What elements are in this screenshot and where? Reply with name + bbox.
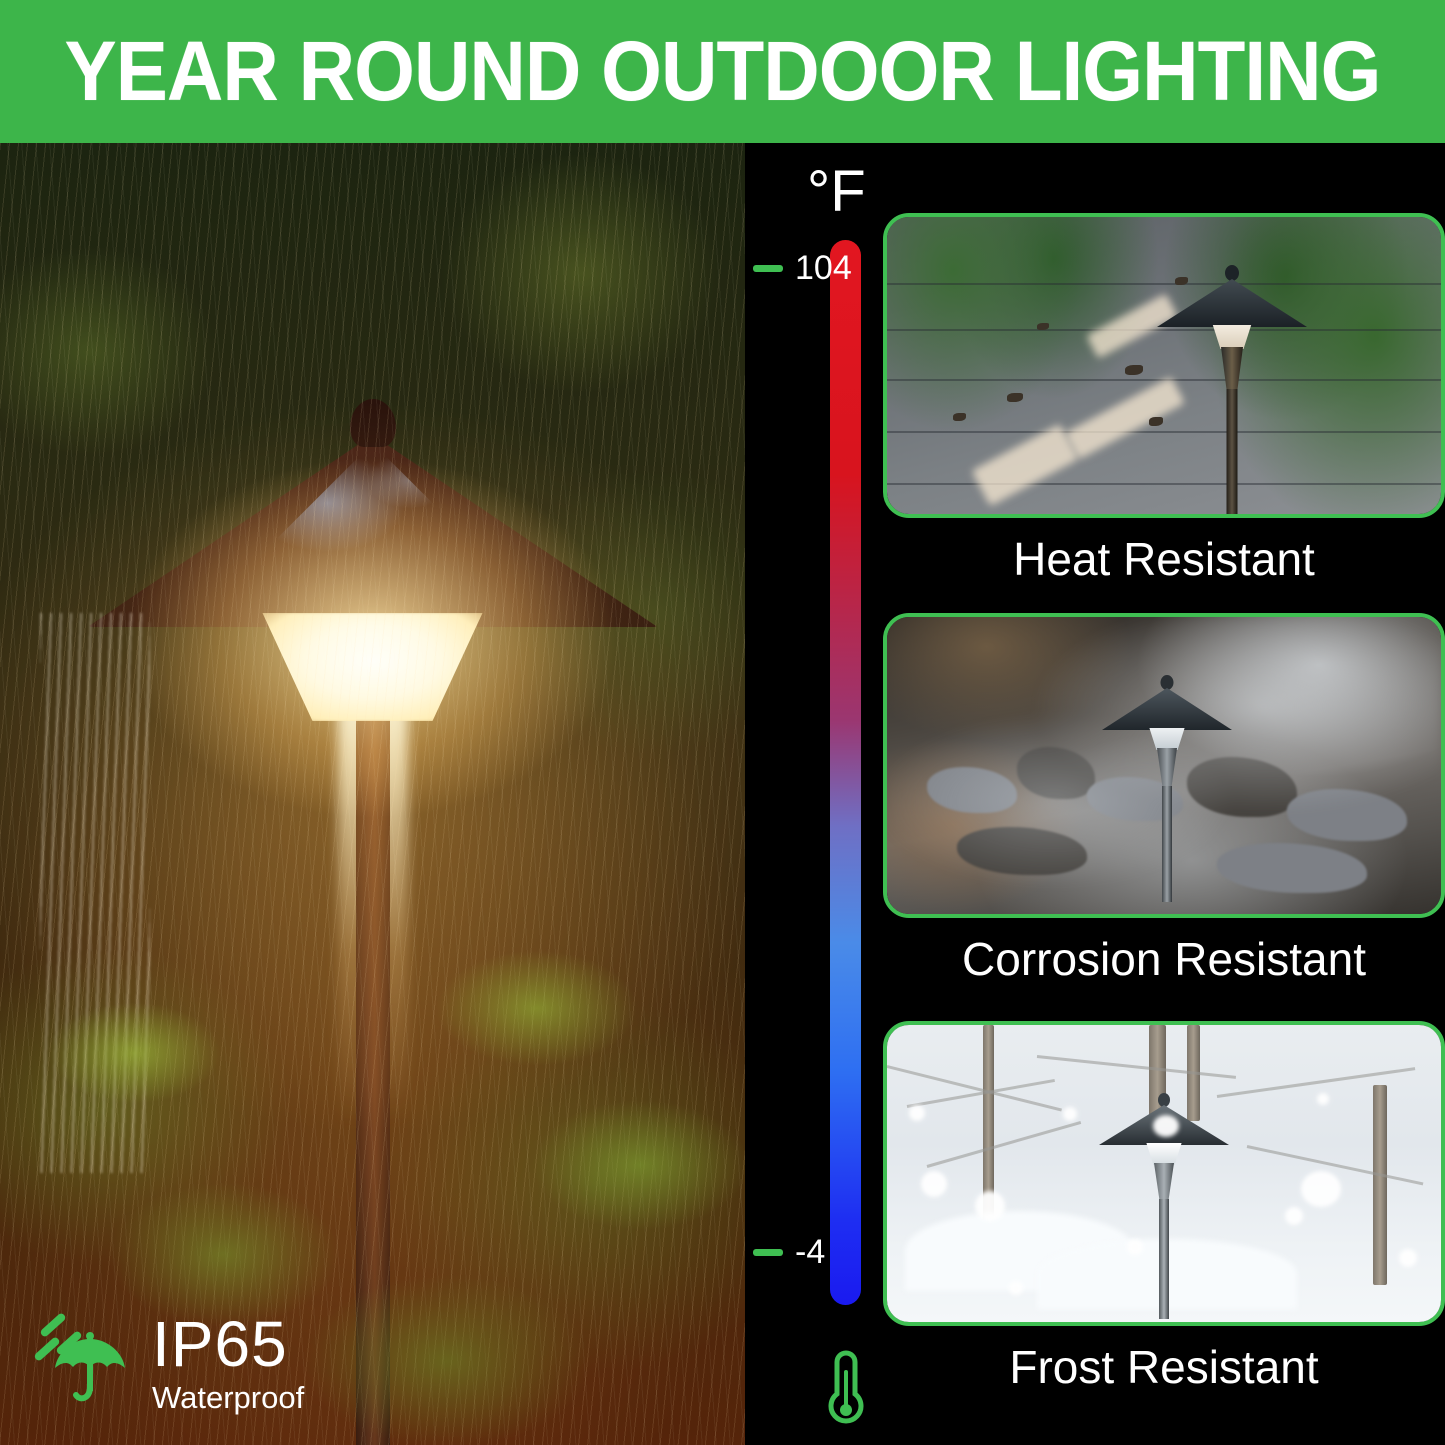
umbrella-icon [42,1315,138,1411]
ip65-text-block: IP65 Waterproof [152,1312,304,1413]
frost-scene-image [887,1025,1441,1322]
page-title: YEAR ROUND OUTDOOR LIGHTING [65,23,1381,120]
temperature-high-label: 104 [795,251,852,285]
feature-card-corrosion[interactable]: Corrosion Resistant [883,613,1445,985]
feature-card-frost[interactable]: Frost Resistant [883,1021,1445,1393]
temperature-unit-label: °F [807,163,866,221]
hero-photo: IP65 Waterproof [0,143,745,1445]
right-panel: °F 104 -4 [745,143,1445,1445]
product-infographic: YEAR ROUND OUTDOOR LIGHTING [0,0,1445,1445]
ip65-subtitle: Waterproof [152,1382,304,1413]
temperature-low-label: -4 [795,1235,825,1269]
header-banner: YEAR ROUND OUTDOOR LIGHTING [0,0,1445,143]
temperature-gradient-bar [830,240,861,1305]
temperature-scale: °F 104 -4 [745,143,890,1445]
feature-label-corrosion: Corrosion Resistant [883,934,1445,985]
heat-scene-image [887,217,1441,514]
feature-thumbnail-heat[interactable] [883,213,1445,518]
temperature-tick-high: 104 [753,251,852,285]
tick-dash-icon [753,265,783,272]
ip65-waterproof-badge: IP65 Waterproof [42,1305,342,1420]
feature-thumbnail-frost[interactable] [883,1021,1445,1326]
ip65-rating-label: IP65 [152,1312,304,1376]
feature-thumbnail-corrosion[interactable] [883,613,1445,918]
feature-label-frost: Frost Resistant [883,1342,1445,1393]
feature-label-heat: Heat Resistant [883,534,1445,585]
temperature-tick-low: -4 [753,1235,825,1269]
feature-card-list: Heat Resistant [883,143,1445,1445]
corrosion-scene-image [887,617,1441,914]
thermometer-icon [823,1348,869,1430]
tick-dash-icon [753,1249,783,1256]
feature-card-heat[interactable]: Heat Resistant [883,213,1445,585]
